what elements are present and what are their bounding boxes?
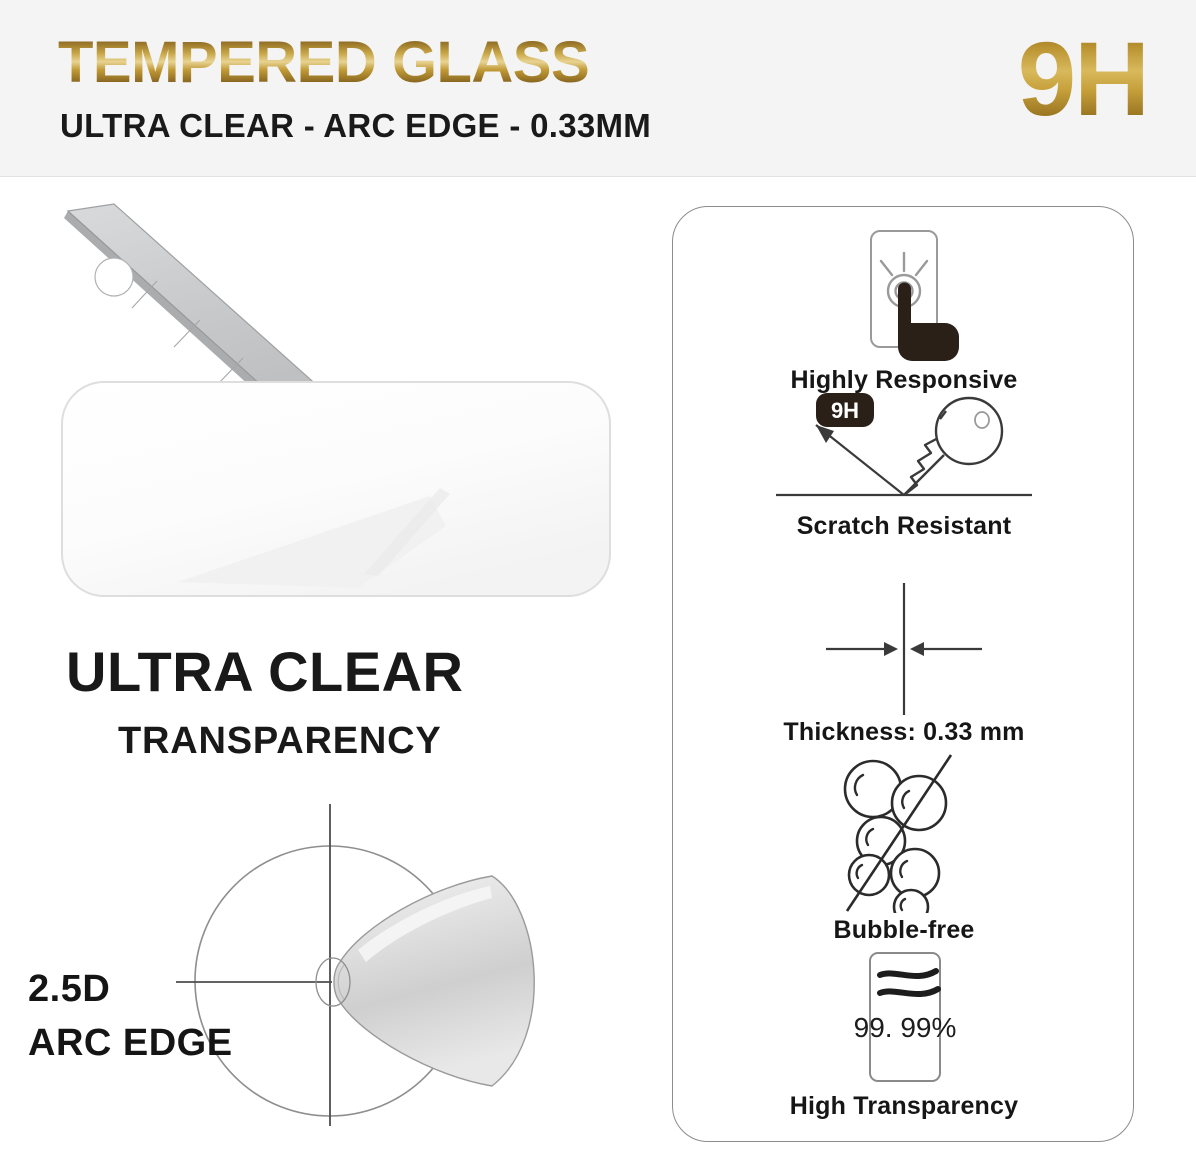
thickness-arrows-icon [754,579,1054,719]
arc-edge-illustration [40,786,640,1126]
page-title: TEMPERED GLASS [58,34,589,92]
arc-edge-label-line1: 2.5D [28,970,110,1008]
transparency-phone-icon: 99. 99% [834,949,974,1089]
transparency-value: 99. 99% [854,1012,957,1043]
feature-high-transparency: 99. 99% High Transparency [673,949,1135,1121]
feature-bubble-free: Bubble-free [673,753,1135,945]
transparency-subheadline: TRANSPARENCY [118,722,441,760]
bubbles-icon [819,753,989,913]
feature-label: Thickness: 0.33 mm [673,719,1135,747]
touch-phone-icon [819,225,989,363]
feature-highly-responsive: Highly Responsive [673,225,1135,395]
glass-illustration [58,376,618,606]
feature-label: High Transparency [673,1093,1135,1121]
arc-edge-label-line2: ARC EDGE [28,1024,233,1062]
feature-label: Bubble-free [673,917,1135,945]
header-banner: TEMPERED GLASS ULTRA CLEAR - ARC EDGE - … [0,0,1196,177]
glass-screen-protector-icon [58,376,618,606]
arc-edge-magnifier-icon [40,786,640,1126]
feature-label: Scratch Resistant [673,513,1135,541]
badge-9h-text: 9H [831,398,859,423]
feature-scratch-resistant: 9H Scratch Resistant [673,389,1135,541]
hardness-badge-9h: 9H [1018,27,1148,132]
key-scratch-icon: 9H [754,389,1054,509]
features-panel: Highly Responsive 9H [672,206,1134,1142]
left-panel: ULTRA CLEAR TRANSPARENCY [0,176,660,1161]
ultra-clear-headline: ULTRA CLEAR [66,644,463,700]
page-subtitle: ULTRA CLEAR - ARC EDGE - 0.33MM [60,107,651,145]
infographic-page: TEMPERED GLASS ULTRA CLEAR - ARC EDGE - … [0,0,1196,1161]
feature-thickness: Thickness: 0.33 mm [673,579,1135,747]
